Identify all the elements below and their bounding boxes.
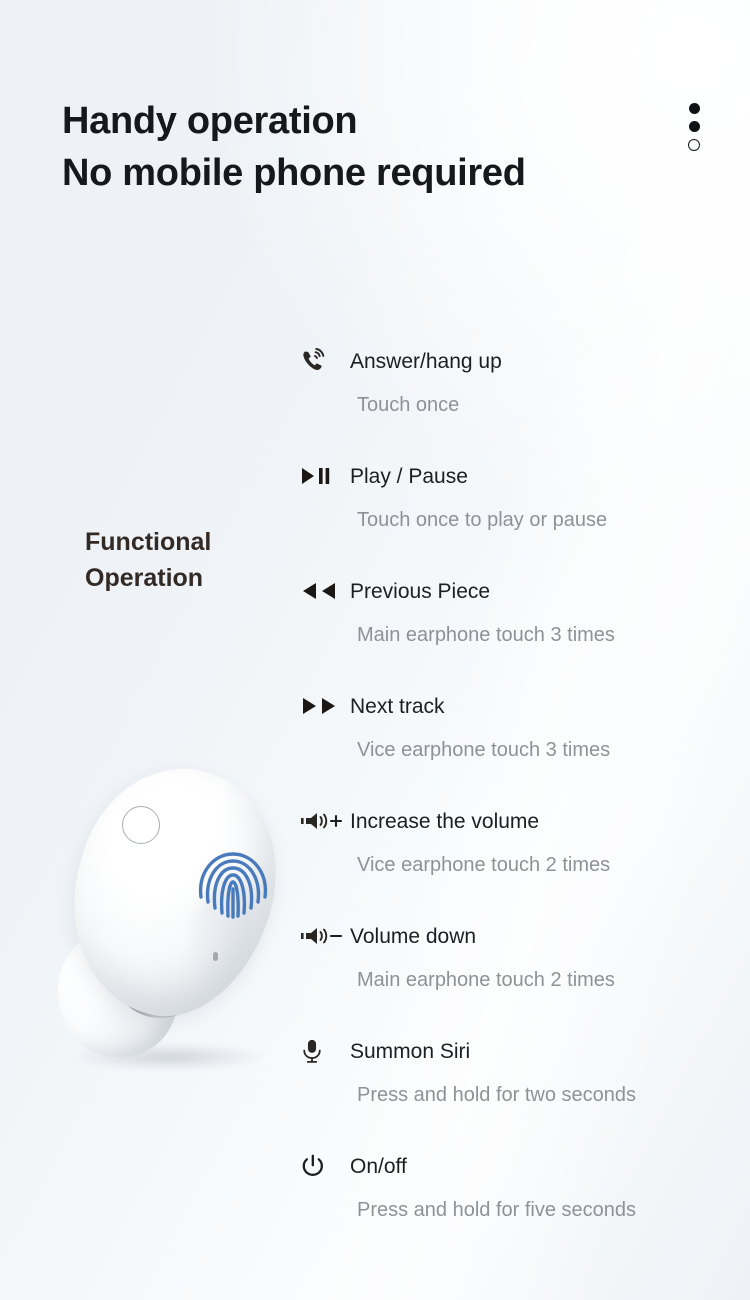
volume-down-icon <box>300 925 350 947</box>
earbud-touch-button <box>122 806 160 844</box>
feature-title: On/off <box>350 1156 407 1177</box>
feature-row-volume-down: Volume down Main earphone touch 2 times <box>300 913 730 1028</box>
dot-filled-2 <box>689 121 700 132</box>
feature-row-next-track: Next track Vice earphone touch 3 times <box>300 683 730 798</box>
feature-row-answer-hang-up: Answer/hang up Touch once <box>300 338 730 453</box>
power-icon <box>300 1153 350 1179</box>
headline-line-2: No mobile phone required <box>62 147 526 199</box>
feature-list: Answer/hang up Touch once Play / Pause T… <box>300 338 730 1258</box>
earbud-microphone-hole <box>213 952 218 961</box>
feature-row-previous-piece: Previous Piece Main earphone touch 3 tim… <box>300 568 730 683</box>
decorative-dots <box>688 103 700 151</box>
feature-title: Previous Piece <box>350 581 490 602</box>
feature-title: Summon Siri <box>350 1041 470 1062</box>
next-track-icon <box>300 696 350 716</box>
previous-track-icon <box>300 581 350 601</box>
dot-filled-1 <box>689 103 700 114</box>
feature-subtitle: Press and hold for five seconds <box>357 1200 730 1220</box>
feature-header: Answer/hang up <box>300 338 730 384</box>
phone-call-icon <box>300 348 350 374</box>
section-label-line-2: Operation <box>85 560 211 596</box>
feature-subtitle: Main earphone touch 2 times <box>357 970 730 990</box>
microphone-icon <box>300 1038 350 1064</box>
feature-title: Volume down <box>350 926 476 947</box>
feature-row-play-pause: Play / Pause Touch once to play or pause <box>300 453 730 568</box>
feature-subtitle: Vice earphone touch 2 times <box>357 855 730 875</box>
volume-up-icon <box>300 810 350 832</box>
play-pause-icon <box>300 466 350 486</box>
feature-row-increase-volume: Increase the volume Vice earphone touch … <box>300 798 730 913</box>
infographic-page: Handy operation No mobile phone required… <box>0 0 750 1300</box>
feature-header: On/off <box>300 1143 730 1189</box>
feature-header: Summon Siri <box>300 1028 730 1074</box>
feature-header: Play / Pause <box>300 453 730 499</box>
feature-header: Next track <box>300 683 730 729</box>
feature-title: Answer/hang up <box>350 351 502 372</box>
earbud-product-image <box>52 762 302 1092</box>
section-label-line-1: Functional <box>85 524 211 560</box>
feature-subtitle: Touch once <box>357 395 730 415</box>
feature-title: Play / Pause <box>350 466 468 487</box>
page-header: Handy operation No mobile phone required <box>62 95 526 200</box>
feature-subtitle: Main earphone touch 3 times <box>357 625 730 645</box>
dot-hollow-3 <box>688 139 700 151</box>
feature-row-summon-siri: Summon Siri Press and hold for two secon… <box>300 1028 730 1143</box>
feature-header: Volume down <box>300 913 730 959</box>
feature-header: Previous Piece <box>300 568 730 614</box>
feature-subtitle: Vice earphone touch 3 times <box>357 740 730 760</box>
headline-line-1: Handy operation <box>62 95 526 147</box>
feature-title: Increase the volume <box>350 811 539 832</box>
feature-subtitle: Touch once to play or pause <box>357 510 730 530</box>
feature-subtitle: Press and hold for two seconds <box>357 1085 730 1105</box>
feature-header: Increase the volume <box>300 798 730 844</box>
fingerprint-icon <box>197 845 269 923</box>
section-label: Functional Operation <box>85 524 211 597</box>
feature-row-on-off: On/off Press and hold for five seconds <box>300 1143 730 1258</box>
feature-title: Next track <box>350 696 445 717</box>
